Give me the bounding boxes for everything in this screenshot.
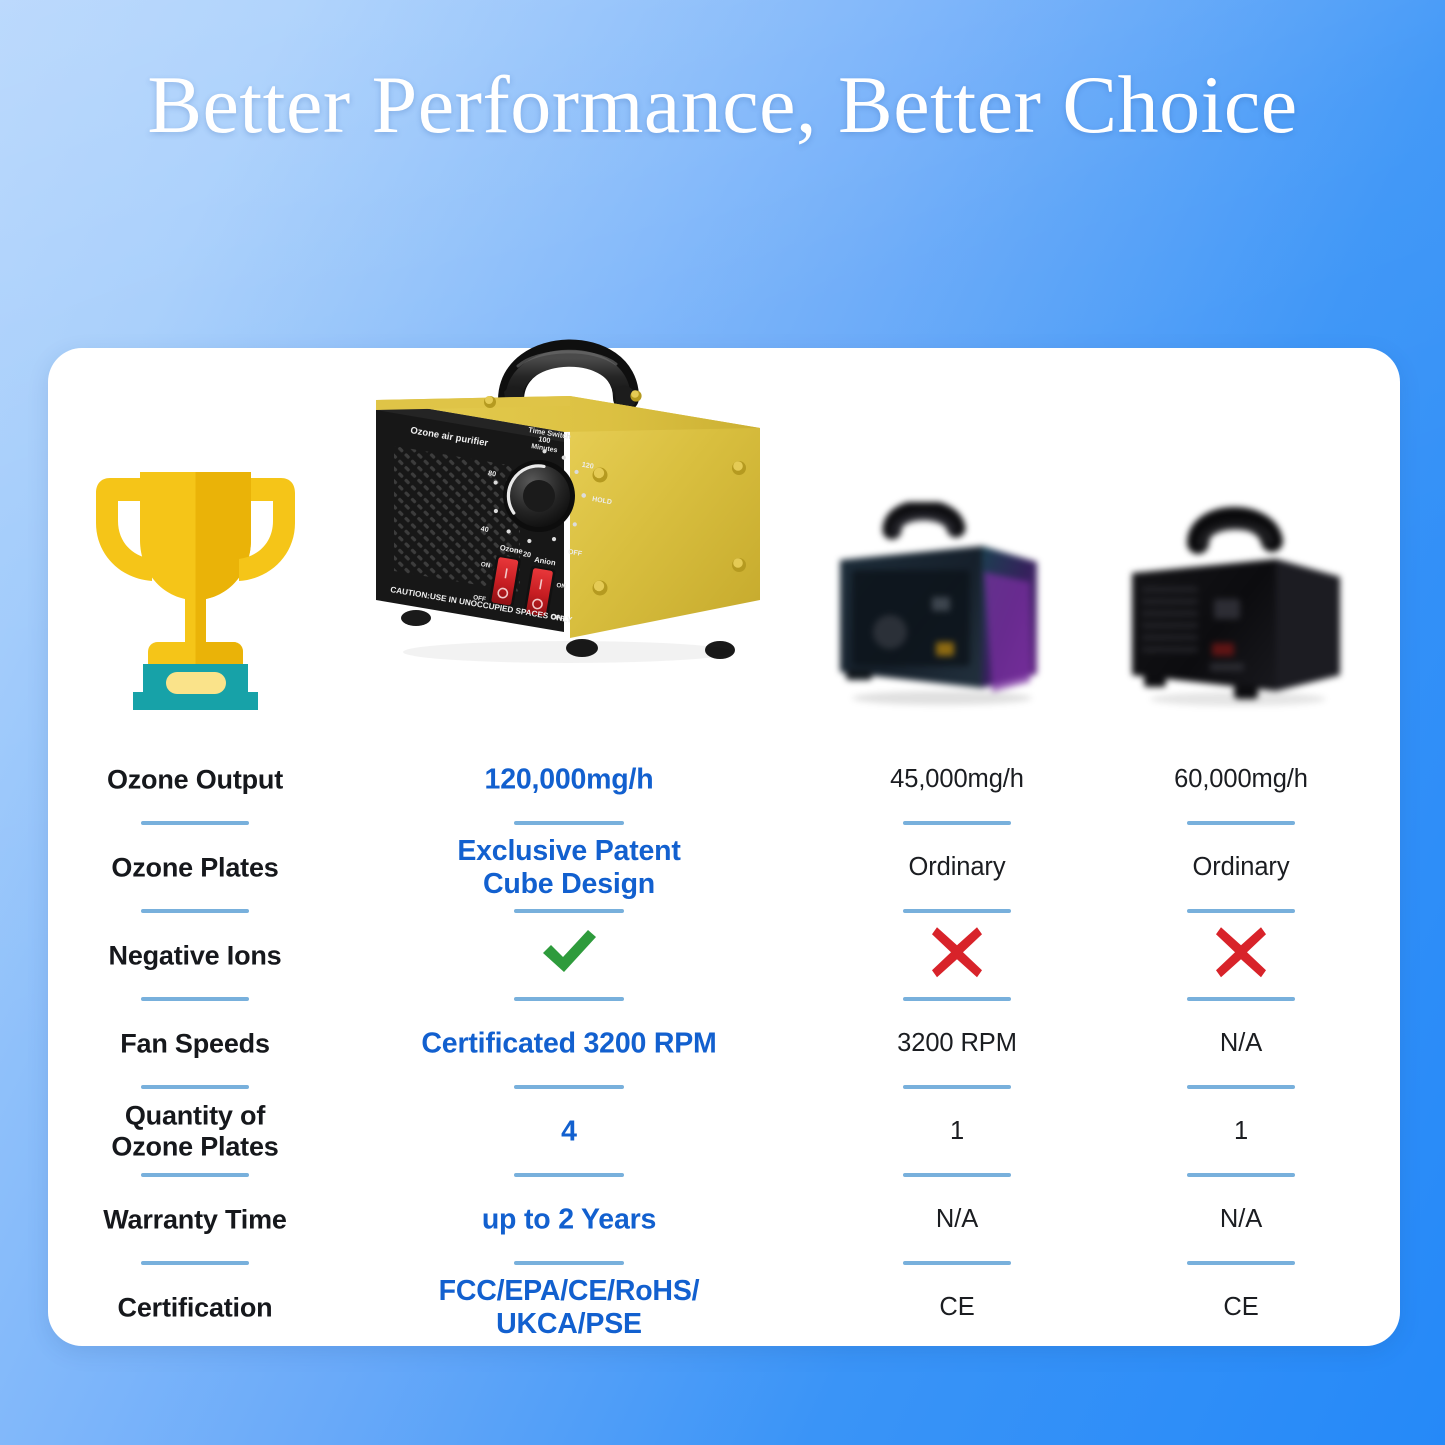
- comparison-rows: Ozone Output120,000mg/h45,000mg/h60,000m…: [0, 736, 1445, 1352]
- competitor-2-product-cell: [1112, 372, 1370, 712]
- competitor-2-blurred-image: [1126, 507, 1356, 712]
- page-title: Better Performance, Better Choice: [0, 58, 1445, 152]
- table-row: Quantity ofOzone Plates411: [0, 1088, 1445, 1176]
- hero-value-cell: [383, 912, 755, 1000]
- feature-label-cell: Ozone Output: [70, 736, 320, 824]
- svg-text:OFF: OFF: [567, 549, 583, 558]
- hero-value: Exclusive PatentCube Design: [383, 835, 755, 901]
- competitor-2-value: 60,000mg/h: [1112, 765, 1370, 795]
- hero-value-cell: Certificated 3200 RPM: [383, 1000, 755, 1088]
- competitor-2-value: N/A: [1112, 1205, 1370, 1235]
- hero-value-cell: 120,000mg/h: [383, 736, 755, 824]
- competitor-2-value-cell: CE: [1112, 1264, 1370, 1352]
- competitor-2-value: [1112, 925, 1370, 987]
- competitor-1-value-cell: 1: [828, 1088, 1086, 1176]
- competitor-2-value: Ordinary: [1112, 853, 1370, 883]
- competitor-1-product-cell: [828, 372, 1086, 712]
- hero-product-cell: Ozone air purifier Time Switch Minutes: [368, 300, 770, 670]
- feature-label: Quantity ofOzone Plates: [70, 1101, 320, 1164]
- competitor-2-value-cell: 1: [1112, 1088, 1370, 1176]
- table-row: Ozone PlatesExclusive PatentCube DesignO…: [0, 824, 1445, 912]
- competitor-2-value: 1: [1112, 1117, 1370, 1147]
- hero-value: Certificated 3200 RPM: [383, 1027, 755, 1060]
- feature-label-cell: Negative Ions: [70, 912, 320, 1000]
- competitor-1-value-cell: CE: [828, 1264, 1086, 1352]
- hero-value: [383, 927, 755, 985]
- svg-text:20: 20: [522, 549, 531, 559]
- hero-value: FCC/EPA/CE/RoHS/UKCA/PSE: [383, 1275, 755, 1341]
- competitor-1-value: 3200 RPM: [828, 1029, 1086, 1059]
- feature-label: Negative Ions: [70, 940, 320, 971]
- competitor-1-value: CE: [828, 1293, 1086, 1323]
- competitor-2-value: CE: [1112, 1293, 1370, 1323]
- competitor-1-value: [828, 925, 1086, 987]
- trophy-cell: [70, 372, 320, 712]
- hero-value-cell: FCC/EPA/CE/RoHS/UKCA/PSE: [383, 1264, 755, 1352]
- cross-mark-icon: [1214, 925, 1268, 979]
- table-row: CertificationFCC/EPA/CE/RoHS/UKCA/PSECEC…: [0, 1264, 1445, 1352]
- hero-value-cell: up to 2 Years: [383, 1176, 755, 1264]
- feature-label-cell: Ozone Plates: [70, 824, 320, 912]
- svg-text:40: 40: [480, 524, 489, 534]
- feature-label: Ozone Plates: [70, 852, 320, 883]
- yellow-ozone-generator-image: Ozone air purifier Time Switch Minutes: [368, 300, 770, 670]
- feature-label-cell: Warranty Time: [70, 1176, 320, 1264]
- competitor-1-value: N/A: [828, 1205, 1086, 1235]
- competitor-1-value-cell: N/A: [828, 1176, 1086, 1264]
- competitor-1-value-cell: 45,000mg/h: [828, 736, 1086, 824]
- feature-label-cell: Certification: [70, 1264, 320, 1352]
- competitor-1-value-cell: Ordinary: [828, 824, 1086, 912]
- feature-label: Ozone Output: [70, 764, 320, 795]
- feature-label-cell: Quantity ofOzone Plates: [70, 1088, 320, 1176]
- competitor-2-value-cell: [1112, 912, 1370, 1000]
- competitor-2-value-cell: N/A: [1112, 1176, 1370, 1264]
- hero-value-cell: 4: [383, 1088, 755, 1176]
- competitor-2-value-cell: N/A: [1112, 1000, 1370, 1088]
- competitor-2-value-cell: 60,000mg/h: [1112, 736, 1370, 824]
- competitor-1-value: 45,000mg/h: [828, 765, 1086, 795]
- table-row: Ozone Output120,000mg/h45,000mg/h60,000m…: [0, 736, 1445, 824]
- feature-label-cell: Fan Speeds: [70, 1000, 320, 1088]
- competitor-1-value-cell: [828, 912, 1086, 1000]
- table-row: Fan SpeedsCertificated 3200 RPM3200 RPMN…: [0, 1000, 1445, 1088]
- competitor-2-value: N/A: [1112, 1029, 1370, 1059]
- hero-value: up to 2 Years: [383, 1203, 755, 1236]
- svg-text:80: 80: [487, 468, 496, 478]
- feature-label: Fan Speeds: [70, 1028, 320, 1059]
- cross-mark-icon: [930, 925, 984, 979]
- competitor-2-value-cell: Ordinary: [1112, 824, 1370, 912]
- feature-label: Warranty Time: [70, 1204, 320, 1235]
- competitor-1-blurred-image: [832, 502, 1082, 712]
- competitor-1-value-cell: 3200 RPM: [828, 1000, 1086, 1088]
- competitor-1-value: 1: [828, 1117, 1086, 1147]
- table-row: Warranty Timeup to 2 YearsN/AN/A: [0, 1176, 1445, 1264]
- competitor-1-value: Ordinary: [828, 853, 1086, 883]
- hero-value-cell: Exclusive PatentCube Design: [383, 824, 755, 912]
- feature-label: Certification: [70, 1292, 320, 1323]
- trophy-icon: [88, 444, 303, 712]
- hero-value: 120,000mg/h: [383, 763, 755, 796]
- check-mark-icon: [538, 927, 600, 977]
- table-row: Negative Ions: [0, 912, 1445, 1000]
- hero-value: 4: [383, 1115, 755, 1148]
